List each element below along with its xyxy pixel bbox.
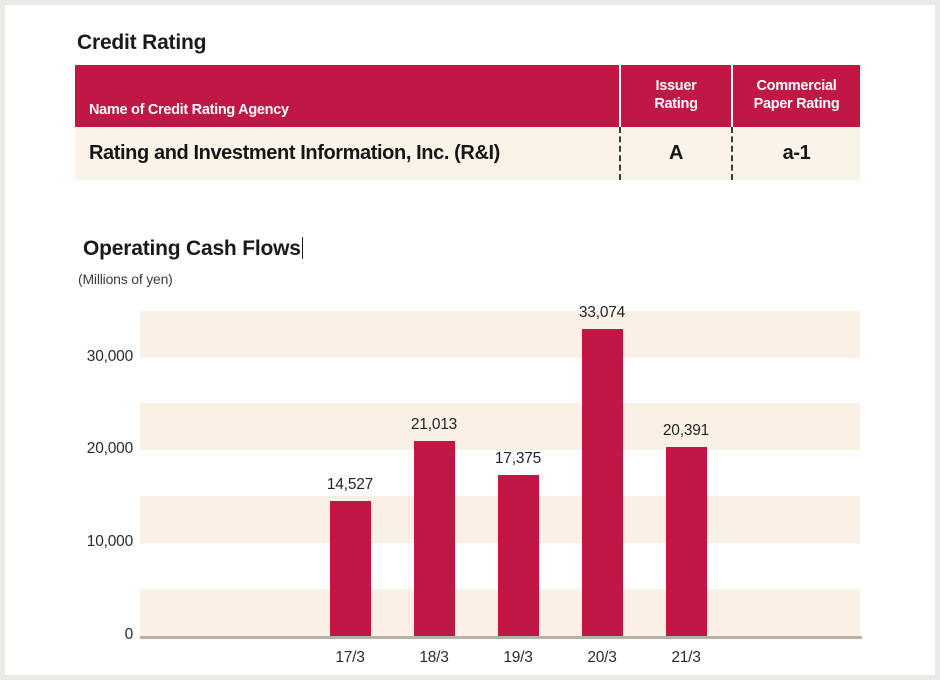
x-axis-line <box>140 636 862 639</box>
cell-commercial-paper-rating: a-1 <box>732 127 860 180</box>
table-row: Rating and Investment Information, Inc. … <box>75 127 860 180</box>
text-cursor-caret <box>302 237 304 259</box>
credit-rating-table-body: Rating and Investment Information, Inc. … <box>75 127 860 180</box>
credit-rating-section: Credit Rating Name of Credit Rating Agen… <box>75 31 860 180</box>
chart-band <box>140 311 860 358</box>
credit-rating-table: Name of Credit Rating Agency Issuer Rati… <box>75 65 860 180</box>
column-header-commercial-paper-line1: Commercial <box>756 78 836 94</box>
chart-bar <box>582 329 623 636</box>
page-root: Credit Rating Name of Credit Rating Agen… <box>0 0 940 680</box>
bar-value-label: 20,391 <box>631 422 741 440</box>
column-header-issuer-rating-line1: Issuer <box>656 78 697 94</box>
y-axis-tick-label: 30,000 <box>75 348 133 366</box>
chart-band <box>140 403 860 450</box>
chart-bar <box>330 501 371 636</box>
column-header-commercial-paper-line2: Paper Rating <box>754 96 840 112</box>
chart-bar <box>414 441 455 636</box>
bar-value-label: 21,013 <box>379 416 489 434</box>
y-axis-tick-label: 20,000 <box>75 440 133 458</box>
table-header-row: Name of Credit Rating Agency Issuer Rati… <box>75 65 860 127</box>
chart-units-label: (Millions of yen) <box>78 271 865 287</box>
cell-issuer-rating: A <box>620 127 732 180</box>
bar-value-label: 33,074 <box>547 304 657 322</box>
chart-bar <box>498 475 539 636</box>
chart-heading: Operating Cash Flows <box>83 237 301 261</box>
cell-agency-name: Rating and Investment Information, Inc. … <box>75 127 620 180</box>
column-header-issuer-rating: Issuer Rating <box>620 65 732 127</box>
credit-rating-heading: Credit Rating <box>77 31 860 54</box>
bar-value-label: 14,527 <box>295 476 405 494</box>
credit-rating-table-head: Name of Credit Rating Agency Issuer Rati… <box>75 65 860 127</box>
column-header-agency-name: Name of Credit Rating Agency <box>75 65 620 127</box>
bar-value-label: 17,375 <box>463 450 573 468</box>
bar-chart: 30,00020,00010,000014,52717/321,01318/31… <box>75 313 865 645</box>
chart-heading-wrap: Operating Cash Flows <box>75 237 865 261</box>
y-axis-tick-label: 0 <box>75 626 133 644</box>
x-axis-tick-label: 21/3 <box>631 649 741 667</box>
chart-bar <box>666 447 707 636</box>
y-axis-tick-label: 10,000 <box>75 533 133 551</box>
column-header-issuer-rating-line2: Rating <box>654 96 697 112</box>
column-header-commercial-paper-rating: Commercial Paper Rating <box>732 65 860 127</box>
operating-cash-flows-section: Operating Cash Flows (Millions of yen) 3… <box>75 237 865 287</box>
